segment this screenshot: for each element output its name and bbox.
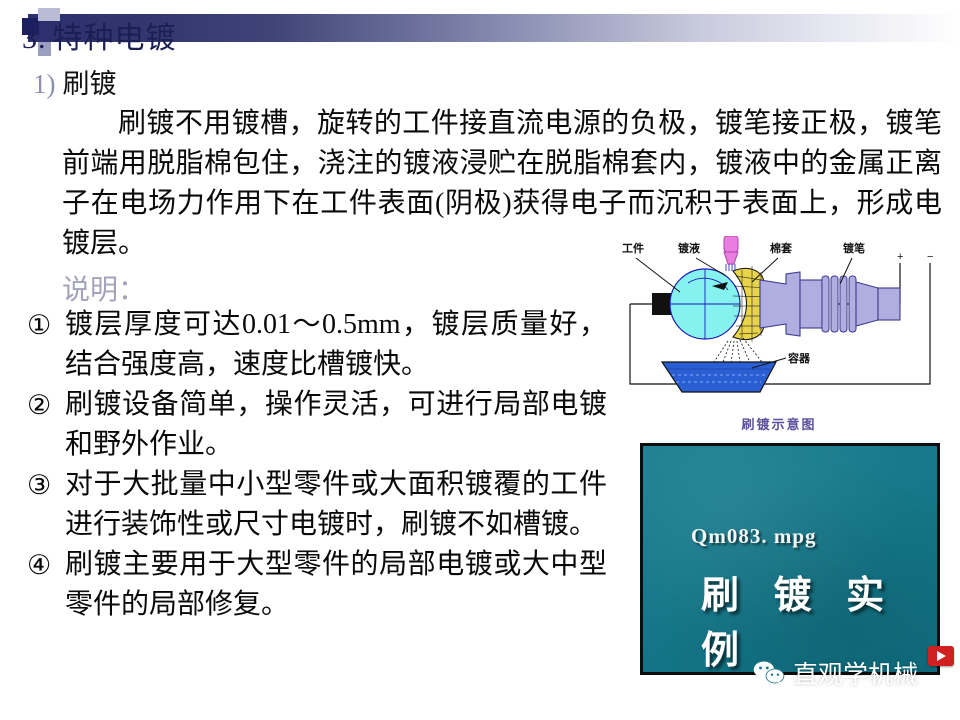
subheading-number: 1) xyxy=(33,69,56,99)
list-item: ④ 刷镀主要用于大型零件的局部电镀或大中型零件的局部修复。 xyxy=(27,545,607,625)
diagram-caption: 刷镀示意图 xyxy=(600,414,958,433)
page-title: 3.特种电镀 xyxy=(22,13,177,57)
label-cotton-sleeve: 棉套 xyxy=(770,241,793,255)
video-thumbnail[interactable]: Qm083. mpg 刷 镀 实 例 xyxy=(640,443,940,675)
negative-terminal-label: − xyxy=(927,251,933,263)
list-item-marker: ① xyxy=(27,305,65,345)
subheading: 1)刷镀 xyxy=(33,62,117,101)
label-plating-solution: 镀液 xyxy=(678,241,701,255)
list-item-text: 刷镀设备简单，操作灵活，可进行局部电镀和野外作业。 xyxy=(65,385,607,465)
label-plating-pen: 镀笔 xyxy=(843,241,865,255)
watermark-text: 直观学机械 xyxy=(793,655,918,691)
positive-terminal-label: + xyxy=(897,251,903,263)
numbered-list: ① 镀层厚度可达0.01～0.5mm，镀层质量好，结合强度高，速度比槽镀快。 ②… xyxy=(27,305,607,625)
list-item-marker: ② xyxy=(27,385,65,425)
container-tray xyxy=(662,362,776,392)
subheading-label: 刷镀 xyxy=(63,69,117,99)
title-label: 特种电镀 xyxy=(53,22,177,55)
brush-plating-diagram: + − xyxy=(600,236,958,438)
list-item-marker: ③ xyxy=(27,465,65,505)
watermark: 直观学机械 xyxy=(752,655,918,691)
list-item: ③ 对于大批量中小型零件或大面积镀覆的工件进行装饰性或尺寸电镀时，刷镀不如槽镀。 xyxy=(27,465,607,545)
list-item-text: 刷镀主要用于大型零件的局部电镀或大中型零件的局部修复。 xyxy=(65,545,607,625)
explanation-label: 说明： xyxy=(62,268,146,308)
video-filename: Qm083. mpg xyxy=(691,524,817,549)
list-item-text: 镀层厚度可达0.01～0.5mm，镀层质量好，结合强度高，速度比槽镀快。 xyxy=(65,305,607,385)
solution-nozzle xyxy=(724,236,738,271)
list-item-marker: ④ xyxy=(27,545,65,585)
list-item-text: 对于大批量中小型零件或大面积镀覆的工件进行装饰性或尺寸电镀时，刷镀不如槽镀。 xyxy=(65,465,607,545)
label-workpiece: 工件 xyxy=(622,241,644,255)
list-item: ① 镀层厚度可达0.01～0.5mm，镀层质量好，结合强度高，速度比槽镀快。 xyxy=(27,305,607,385)
play-icon[interactable] xyxy=(928,646,954,666)
wechat-icon xyxy=(752,660,786,686)
title-number: 3. xyxy=(22,22,47,55)
label-container: 容器 xyxy=(787,351,811,365)
diagram-svg: + − xyxy=(600,236,958,416)
list-item: ② 刷镀设备简单，操作灵活，可进行局部电镀和野外作业。 xyxy=(27,385,607,465)
slide-title-banner: 3.特种电镀 xyxy=(0,6,960,46)
plating-pen xyxy=(760,272,900,336)
